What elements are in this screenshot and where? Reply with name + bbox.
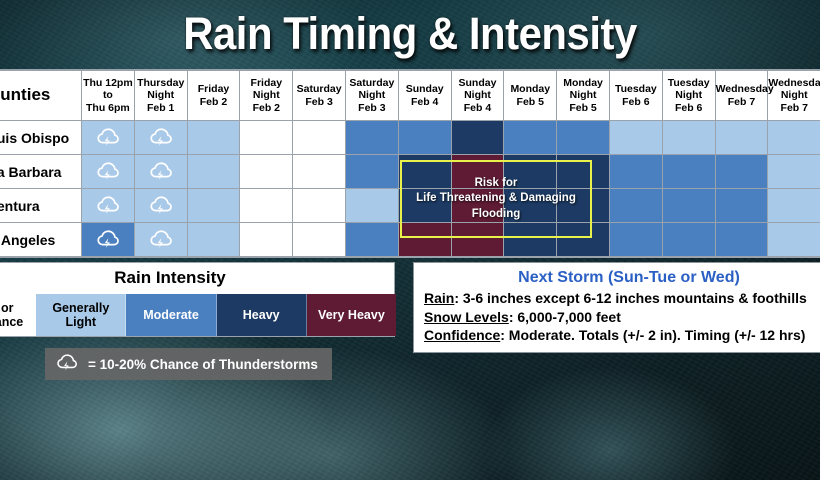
table-row: Los Angeles bbox=[0, 223, 820, 257]
table-header: Counties Thu 12pm to Thu 6pmThursday Nig… bbox=[0, 71, 820, 121]
intensity-cell-2-11 bbox=[662, 189, 715, 223]
thunderstorm-note-text: = 10-20% Chance of Thunderstorms bbox=[88, 357, 318, 372]
intensity-cell-2-4 bbox=[293, 189, 346, 223]
counties-header: Counties bbox=[0, 71, 82, 121]
table-row: Santa Barbara bbox=[0, 155, 820, 189]
intensity-cell-0-11 bbox=[662, 121, 715, 155]
thunderstorm-icon bbox=[95, 195, 121, 217]
column-header-3: Friday Night Feb 2 bbox=[240, 71, 293, 121]
column-header-12: Wednesday Feb 7 bbox=[715, 71, 768, 121]
intensity-cell-0-0 bbox=[82, 121, 135, 155]
thunderstorm-icon bbox=[148, 229, 174, 251]
next-storm-panel: Next Storm (Sun-Tue or Wed) Rain: 3-6 in… bbox=[413, 262, 820, 353]
weather-graphic: Rain Timing & Intensity Counties Thu 12p… bbox=[0, 0, 820, 480]
thunderstorm-icon bbox=[148, 127, 174, 149]
page-title: Rain Timing & Intensity bbox=[29, 8, 792, 60]
column-header-7: Sunday Night Feb 4 bbox=[451, 71, 504, 121]
row-label-county: Los Angeles bbox=[0, 223, 82, 257]
rain-intensity-legend: Rain Intensity Little or No ChanceGenera… bbox=[0, 262, 395, 337]
table-row: San Luis Obispo bbox=[0, 121, 820, 155]
legend-title: Rain Intensity bbox=[0, 263, 394, 294]
intensity-cell-1-9 bbox=[557, 155, 610, 189]
legend-item-0: Little or No Chance bbox=[0, 294, 36, 336]
intensity-cell-1-4 bbox=[293, 155, 346, 189]
next-storm-line-0: Rain: 3-6 inches except 6-12 inches moun… bbox=[424, 289, 820, 308]
legend-item-3: Heavy bbox=[217, 294, 307, 336]
intensity-cell-1-5 bbox=[345, 155, 398, 189]
intensity-cell-0-9 bbox=[557, 121, 610, 155]
column-header-5: Saturday Night Feb 3 bbox=[345, 71, 398, 121]
intensity-cell-1-13 bbox=[768, 155, 820, 189]
column-header-8: Monday Feb 5 bbox=[504, 71, 557, 121]
intensity-cell-1-8 bbox=[504, 155, 557, 189]
intensity-cell-0-12 bbox=[715, 121, 768, 155]
column-header-9: Monday Night Feb 5 bbox=[557, 71, 610, 121]
column-header-1: Thursday Night Feb 1 bbox=[134, 71, 187, 121]
intensity-cell-1-1 bbox=[134, 155, 187, 189]
row-label-county: Santa Barbara bbox=[0, 155, 82, 189]
intensity-cell-3-13 bbox=[768, 223, 820, 257]
next-storm-heading: Next Storm (Sun-Tue or Wed) bbox=[424, 269, 820, 287]
intensity-cell-0-5 bbox=[345, 121, 398, 155]
intensity-cell-0-7 bbox=[451, 121, 504, 155]
next-storm-line-2: Confidence: Moderate. Totals (+/- 2 in).… bbox=[424, 326, 820, 345]
intensity-cell-0-3 bbox=[240, 121, 293, 155]
thunderstorm-note: = 10-20% Chance of Thunderstorms bbox=[45, 348, 332, 380]
intensity-cell-2-10 bbox=[609, 189, 662, 223]
intensity-cell-3-3 bbox=[240, 223, 293, 257]
intensity-cell-0-4 bbox=[293, 121, 346, 155]
thunderstorm-icon bbox=[55, 353, 81, 375]
intensity-cell-1-7 bbox=[451, 155, 504, 189]
intensity-cell-3-7 bbox=[451, 223, 504, 257]
intensity-cell-3-1 bbox=[134, 223, 187, 257]
legend-item-4: Very Heavy bbox=[307, 294, 396, 336]
intensity-cell-3-6 bbox=[398, 223, 451, 257]
intensity-cell-3-5 bbox=[345, 223, 398, 257]
intensity-cell-1-12 bbox=[715, 155, 768, 189]
intensity-cell-2-9 bbox=[557, 189, 610, 223]
intensity-cell-2-1 bbox=[134, 189, 187, 223]
intensity-cell-3-9 bbox=[557, 223, 610, 257]
intensity-cell-3-0 bbox=[82, 223, 135, 257]
intensity-cell-2-12 bbox=[715, 189, 768, 223]
legend-item-2: Moderate bbox=[126, 294, 216, 336]
intensity-cell-1-0 bbox=[82, 155, 135, 189]
thunderstorm-icon bbox=[95, 161, 121, 183]
row-label-county: San Luis Obispo bbox=[0, 121, 82, 155]
intensity-cell-2-7 bbox=[451, 189, 504, 223]
column-header-13: Wednesday Night Feb 7 bbox=[768, 71, 820, 121]
intensity-cell-3-2 bbox=[187, 223, 240, 257]
intensity-cell-3-4 bbox=[293, 223, 346, 257]
thunderstorm-icon bbox=[148, 161, 174, 183]
next-storm-line-1: Snow Levels: 6,000-7,000 feet bbox=[424, 308, 820, 327]
intensity-cell-1-10 bbox=[609, 155, 662, 189]
intensity-cell-1-6 bbox=[398, 155, 451, 189]
rain-timing-table-container: Counties Thu 12pm to Thu 6pmThursday Nig… bbox=[0, 69, 820, 258]
column-header-6: Sunday Feb 4 bbox=[398, 71, 451, 121]
intensity-cell-0-6 bbox=[398, 121, 451, 155]
intensity-cell-1-11 bbox=[662, 155, 715, 189]
intensity-cell-1-2 bbox=[187, 155, 240, 189]
column-header-0: Thu 12pm to Thu 6pm bbox=[82, 71, 135, 121]
rain-timing-table: Counties Thu 12pm to Thu 6pmThursday Nig… bbox=[0, 70, 820, 257]
thunderstorm-icon bbox=[95, 127, 121, 149]
column-header-2: Friday Feb 2 bbox=[187, 71, 240, 121]
intensity-cell-3-11 bbox=[662, 223, 715, 257]
intensity-cell-0-1 bbox=[134, 121, 187, 155]
intensity-cell-2-8 bbox=[504, 189, 557, 223]
intensity-cell-2-3 bbox=[240, 189, 293, 223]
intensity-cell-2-0 bbox=[82, 189, 135, 223]
next-storm-lines: Rain: 3-6 inches except 6-12 inches moun… bbox=[424, 289, 820, 345]
intensity-cell-3-8 bbox=[504, 223, 557, 257]
intensity-cell-1-3 bbox=[240, 155, 293, 189]
thunderstorm-icon bbox=[148, 195, 174, 217]
table-header-row: Counties Thu 12pm to Thu 6pmThursday Nig… bbox=[0, 71, 820, 121]
intensity-cell-3-12 bbox=[715, 223, 768, 257]
table-row: Ventura bbox=[0, 189, 820, 223]
column-header-4: Saturday Feb 3 bbox=[293, 71, 346, 121]
legend-swatch-row: Little or No ChanceGenerally LightModera… bbox=[0, 294, 396, 336]
table-body: San Luis ObispoSanta BarbaraVenturaLos A… bbox=[0, 121, 820, 257]
intensity-cell-0-13 bbox=[768, 121, 820, 155]
intensity-cell-0-2 bbox=[187, 121, 240, 155]
column-header-10: Tuesday Feb 6 bbox=[609, 71, 662, 121]
intensity-cell-2-2 bbox=[187, 189, 240, 223]
intensity-cell-0-8 bbox=[504, 121, 557, 155]
intensity-cell-2-5 bbox=[345, 189, 398, 223]
row-label-county: Ventura bbox=[0, 189, 82, 223]
intensity-cell-2-13 bbox=[768, 189, 820, 223]
intensity-cell-3-10 bbox=[609, 223, 662, 257]
intensity-cell-0-10 bbox=[609, 121, 662, 155]
thunderstorm-icon bbox=[95, 229, 121, 251]
column-header-11: Tuesday Night Feb 6 bbox=[662, 71, 715, 121]
intensity-cell-2-6 bbox=[398, 189, 451, 223]
legend-item-1: Generally Light bbox=[36, 294, 126, 336]
